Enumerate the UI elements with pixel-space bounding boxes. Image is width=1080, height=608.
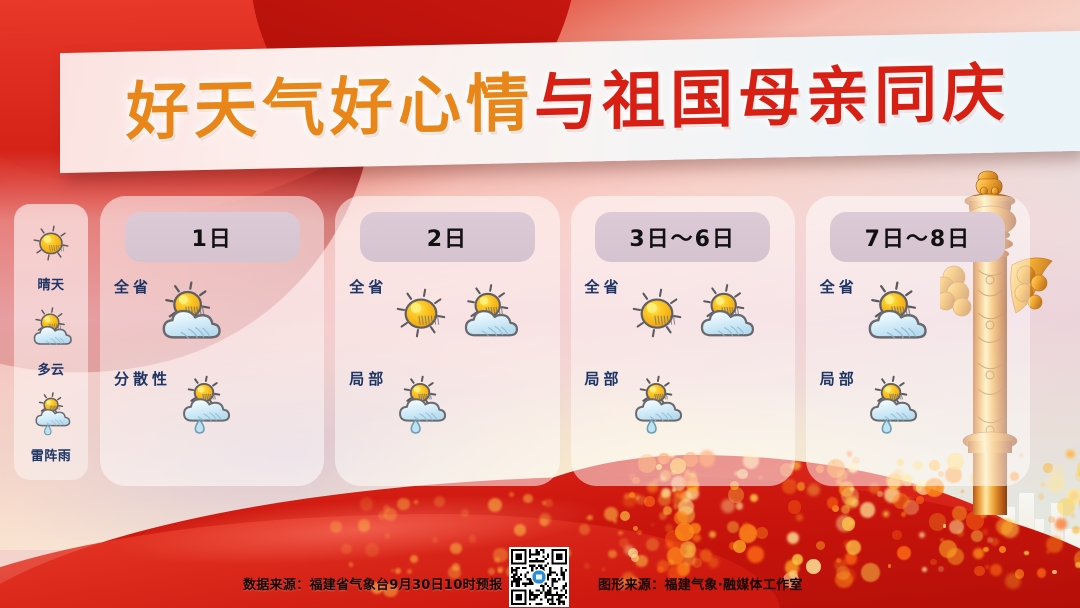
panel-header-text: 7日～8日 xyxy=(865,221,972,253)
panel-header-pill: 2日 xyxy=(360,212,535,262)
forecast-row-local: 分散性 xyxy=(100,364,324,450)
bokeh-particle xyxy=(608,550,617,559)
bokeh-particle xyxy=(901,512,906,517)
forecast-row-local: 局部 xyxy=(571,364,795,450)
bokeh-particle xyxy=(938,566,944,572)
weather-legend: 晴天 多云 xyxy=(14,204,88,480)
sunny-icon xyxy=(389,281,453,350)
bokeh-particle xyxy=(922,567,926,571)
title-banner: 好天气好心情与祖国母亲同庆 xyxy=(60,31,1080,173)
forecast-row-icons xyxy=(860,374,922,441)
forecast-row-label: 全省 xyxy=(114,276,152,297)
bokeh-particle xyxy=(674,505,677,508)
legend-item-1: 多云 xyxy=(28,305,74,378)
bokeh-particle xyxy=(509,492,514,497)
bokeh-particle xyxy=(619,538,629,548)
bokeh-particle xyxy=(1024,551,1028,555)
bokeh-particle xyxy=(469,535,477,543)
thundershower-icon xyxy=(625,374,687,441)
bokeh-particle xyxy=(1037,568,1046,577)
bokeh-particle xyxy=(919,532,925,538)
bokeh-particle xyxy=(974,566,984,576)
bokeh-particle xyxy=(330,521,341,532)
bokeh-particle xyxy=(816,541,826,551)
thundershower-icon xyxy=(389,374,451,441)
bokeh-particle xyxy=(365,543,379,557)
panel-header-text: 3日～6日 xyxy=(629,221,736,253)
bokeh-particle xyxy=(1005,573,1021,589)
cloudy-icon xyxy=(154,278,224,353)
panel-header-pill: 1日 xyxy=(125,212,300,262)
bokeh-particle xyxy=(637,530,642,535)
bokeh-particle xyxy=(850,487,854,491)
bokeh-particle xyxy=(659,512,667,520)
bokeh-particle xyxy=(384,508,397,521)
bokeh-particle xyxy=(1046,550,1050,554)
bokeh-particle xyxy=(949,520,963,534)
cloudy-icon xyxy=(860,278,930,353)
bokeh-particle xyxy=(397,498,410,511)
bokeh-particle xyxy=(742,522,750,530)
bokeh-particle xyxy=(644,496,654,506)
bokeh-particle xyxy=(672,488,676,492)
bokeh-particle xyxy=(523,494,532,503)
forecast-row-label: 分散性 xyxy=(114,368,171,389)
bokeh-particle xyxy=(1076,557,1079,560)
bokeh-particle xyxy=(806,559,821,574)
bokeh-particle xyxy=(658,493,671,506)
bokeh-particle xyxy=(750,494,758,502)
forecast-panel-2: 3日～6日全省 xyxy=(571,196,795,486)
bokeh-particle xyxy=(358,519,371,532)
forecast-row-local: 局部 xyxy=(335,364,559,450)
forecast-row-label: 局部 xyxy=(820,368,858,389)
legend-label: 雷阵雨 xyxy=(31,445,72,464)
bokeh-particle xyxy=(586,516,590,520)
forecast-row-icons xyxy=(860,278,930,353)
bokeh-particle xyxy=(360,497,373,510)
bokeh-particle xyxy=(488,498,502,512)
bokeh-particle xyxy=(635,555,647,567)
bokeh-particle xyxy=(613,519,617,523)
bokeh-particle xyxy=(497,566,504,573)
forecast-row-province: 全省 xyxy=(100,272,324,358)
bokeh-particle xyxy=(736,502,744,510)
bokeh-particle xyxy=(584,563,590,569)
legend-label: 晴天 xyxy=(37,274,64,293)
forecast-row-icons xyxy=(625,281,757,350)
bokeh-particle xyxy=(888,564,891,567)
bokeh-particle xyxy=(709,531,716,538)
forecast-panels: 1日全省 分散性 xyxy=(100,196,1030,486)
sunny-icon xyxy=(28,220,74,271)
bokeh-particle xyxy=(461,509,469,517)
bokeh-particle xyxy=(897,546,911,560)
title-part-red: 与祖国母亲同庆 xyxy=(534,56,1010,139)
forecast-row-icons xyxy=(154,278,224,353)
forecast-panel-1: 2日全省 xyxy=(335,196,559,486)
bokeh-particle xyxy=(391,569,395,573)
bokeh-particle xyxy=(624,493,630,499)
bokeh-particle xyxy=(788,500,802,514)
bokeh-particle xyxy=(787,532,799,544)
bokeh-particle xyxy=(987,537,993,543)
page-title: 好天气好心情与祖国母亲同庆 xyxy=(126,61,1010,143)
thundershower-icon xyxy=(28,391,74,442)
bokeh-particle xyxy=(341,544,351,554)
bokeh-particle xyxy=(973,548,984,559)
bokeh-particle xyxy=(385,533,391,539)
bokeh-particle xyxy=(916,496,924,504)
cloudy-icon xyxy=(693,281,757,350)
forecast-row-province: 全省 xyxy=(806,272,1030,358)
panel-header-text: 1日 xyxy=(191,221,232,253)
bokeh-particle xyxy=(692,558,702,568)
bokeh-particle xyxy=(836,566,850,580)
bokeh-particle xyxy=(727,521,740,534)
bokeh-particle xyxy=(1071,514,1075,518)
bokeh-particle xyxy=(842,517,856,531)
forecast-row-icons xyxy=(173,374,235,441)
bokeh-particle xyxy=(450,543,462,555)
bokeh-particle xyxy=(851,499,860,508)
legend-item-0: 晴天 xyxy=(28,220,74,293)
bokeh-particle xyxy=(1075,562,1080,569)
forecast-row-icons xyxy=(625,374,687,441)
forecast-row-label: 全省 xyxy=(349,276,387,297)
forecast-row-province: 全省 xyxy=(335,272,559,358)
forecast-row-label: 局部 xyxy=(585,368,623,389)
bokeh-particle xyxy=(602,568,606,572)
bokeh-particle xyxy=(410,555,418,563)
bokeh-particle xyxy=(539,513,551,525)
bokeh-particle xyxy=(432,537,438,543)
bokeh-particle xyxy=(1075,470,1080,482)
bokeh-particle xyxy=(651,523,655,527)
bokeh-particle xyxy=(985,565,989,569)
forecast-row-local: 局部 xyxy=(806,364,1030,450)
bokeh-particle xyxy=(930,559,937,566)
forecast-row-icons xyxy=(389,281,521,350)
bokeh-particle xyxy=(675,523,693,541)
panel-header-pill: 7日～8日 xyxy=(830,212,1005,262)
bokeh-particle xyxy=(983,547,988,552)
bokeh-particle xyxy=(686,544,695,553)
bokeh-particle xyxy=(883,511,889,517)
forecast-row-label: 全省 xyxy=(820,276,858,297)
bokeh-particle xyxy=(792,554,803,565)
bokeh-particle xyxy=(756,527,768,539)
forecast-row-province: 全省 xyxy=(571,272,795,358)
bokeh-particle xyxy=(544,499,553,508)
forecast-row-icons xyxy=(389,374,451,441)
data-source-text: 数据来源：福建省气象台9月30日10时预报 xyxy=(243,574,503,593)
bokeh-particle xyxy=(796,514,803,521)
bokeh-particle xyxy=(827,497,839,509)
thundershower-icon xyxy=(860,374,922,441)
bokeh-particle xyxy=(892,530,902,540)
infographic-root: 好天气好心情与祖国母亲同庆 晴天 xyxy=(0,0,1080,608)
bokeh-particle xyxy=(646,538,659,551)
panel-header-text: 2日 xyxy=(427,221,468,253)
bokeh-particle xyxy=(846,540,862,556)
graphic-source-text: 图形来源：福建气象·融媒体工作室 xyxy=(598,574,803,593)
bokeh-particle xyxy=(414,500,418,504)
bokeh-particle xyxy=(708,557,719,568)
bokeh-particle xyxy=(514,524,526,536)
bokeh-particle xyxy=(999,546,1006,553)
bokeh-particle xyxy=(657,566,664,573)
bokeh-particle xyxy=(618,531,622,535)
legend-label: 多云 xyxy=(37,359,64,378)
qr-code-icon[interactable] xyxy=(509,547,569,607)
bokeh-particle xyxy=(349,562,353,566)
bokeh-particle xyxy=(494,557,500,563)
legend-item-2: 雷阵雨 xyxy=(28,391,74,464)
bokeh-particle xyxy=(929,513,946,530)
bokeh-particle xyxy=(861,563,879,581)
bokeh-particle xyxy=(1052,570,1056,574)
forecast-row-label: 全省 xyxy=(585,276,623,297)
forecast-panel-3: 7日～8日全省 局部 xyxy=(806,196,1030,486)
panel-header-pill: 3日～6日 xyxy=(595,212,770,262)
cloudy-icon xyxy=(457,281,521,350)
bokeh-particle xyxy=(434,496,445,507)
bokeh-particle xyxy=(1048,516,1055,523)
bokeh-particle xyxy=(620,511,630,521)
bokeh-particle xyxy=(579,524,590,535)
bokeh-particle xyxy=(990,564,1002,576)
bokeh-particle xyxy=(860,502,876,518)
cloudy-icon xyxy=(28,305,74,356)
bokeh-particle xyxy=(1055,518,1067,530)
title-part-orange: 好天气好心情 xyxy=(126,66,534,148)
forecast-row-label: 局部 xyxy=(349,368,387,389)
bokeh-particle xyxy=(747,546,764,563)
forecast-panel-0: 1日全省 分散性 xyxy=(100,196,324,486)
thundershower-icon xyxy=(173,374,235,441)
bokeh-particle xyxy=(836,558,841,563)
bokeh-particle xyxy=(1072,526,1080,534)
sunny-icon xyxy=(625,281,689,350)
bokeh-particle xyxy=(982,529,988,535)
bokeh-particle xyxy=(947,548,964,565)
bokeh-particle xyxy=(1066,450,1074,458)
